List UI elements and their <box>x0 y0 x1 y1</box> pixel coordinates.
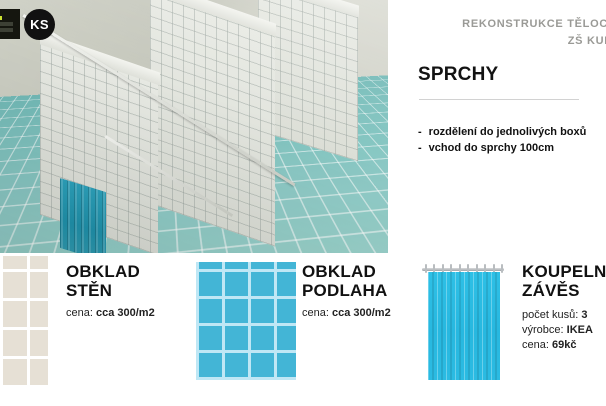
curtain-specs: počet kusů: 3 výrobce: IKEA cena: 69kč <box>522 308 606 353</box>
curtain-ring <box>501 264 503 273</box>
studio-logo-mark <box>0 9 20 39</box>
spec-label: výrobce: <box>522 324 564 336</box>
shower-curtain-photo <box>419 258 507 384</box>
material-label-floor: OBKLAD PODLAHA cena: cca 300/m2 <box>302 262 391 319</box>
title-divider <box>419 99 579 100</box>
price-label: cena: <box>66 307 93 319</box>
price-label: cena: <box>302 307 329 319</box>
material-label-wall: OBKLAD STĚN cena: cca 300/m2 <box>66 262 155 319</box>
material-title-line2: STĚN <box>66 281 155 300</box>
bullet-dash: - <box>418 124 422 140</box>
page-title: SPRCHY <box>418 64 498 86</box>
blue-floor-tile-swatch <box>196 262 296 380</box>
spec-row: počet kusů: 3 <box>522 308 606 323</box>
list-item: - vchod do sprchy 100cm <box>418 140 606 156</box>
list-item: - rozdělení do jednolivých boxů <box>418 124 606 140</box>
spec-label: cena: <box>522 339 549 351</box>
material-title-line1: OBKLAD <box>302 262 391 281</box>
material-price: cena: cca 300/m2 <box>66 307 155 319</box>
spec-value: 3 <box>581 309 587 321</box>
render-partition-2 <box>150 0 275 247</box>
project-title-line2: ZŠ KUI <box>348 33 606 50</box>
ks-badge-text: KS <box>30 17 49 32</box>
material-title-line1: OBKLAD <box>66 262 155 281</box>
spec-label: počet kusů: <box>522 309 578 321</box>
spec-row: cena: 69kč <box>522 338 606 353</box>
bullet-dash: - <box>418 140 422 156</box>
curtain-fabric <box>428 272 500 380</box>
shower-room-render <box>0 0 388 253</box>
curtain-title-line2: ZÁVĚS <box>522 281 606 300</box>
bullet-text: rozdělení do jednolivých boxů <box>429 124 587 140</box>
ks-badge: KS <box>24 9 55 40</box>
spec-value: 69kč <box>552 339 576 351</box>
material-price: cena: cca 300/m2 <box>302 307 391 319</box>
slide-root: KS REKONSTRUKCE TĚLOC ZŠ KUI SPRCHY - ro… <box>0 0 606 406</box>
render-curtain-front <box>60 178 106 253</box>
logo-bar <box>0 22 13 26</box>
price-value: cca 300/m2 <box>332 307 391 319</box>
project-title: REKONSTRUKCE TĚLOC ZŠ KUI <box>348 16 606 50</box>
curtain-ring <box>425 264 427 273</box>
beige-wall-tile-swatch <box>0 256 48 388</box>
logo-accent-bar <box>0 16 2 20</box>
material-title-line2: PODLAHA <box>302 281 391 300</box>
material-label-curtain: KOUPELNO ZÁVĚS počet kusů: 3 výrobce: IK… <box>522 262 606 353</box>
curtain-title-line1: KOUPELNO <box>522 262 606 281</box>
price-value: cca 300/m2 <box>96 307 155 319</box>
spec-value: IKEA <box>567 324 593 336</box>
bullet-text: vchod do sprchy 100cm <box>429 140 554 156</box>
specification-list: - rozdělení do jednolivých boxů - vchod … <box>418 124 606 156</box>
spec-row: výrobce: IKEA <box>522 323 606 338</box>
logo-bar <box>0 28 13 32</box>
project-title-line1: REKONSTRUKCE TĚLOC <box>462 18 606 30</box>
